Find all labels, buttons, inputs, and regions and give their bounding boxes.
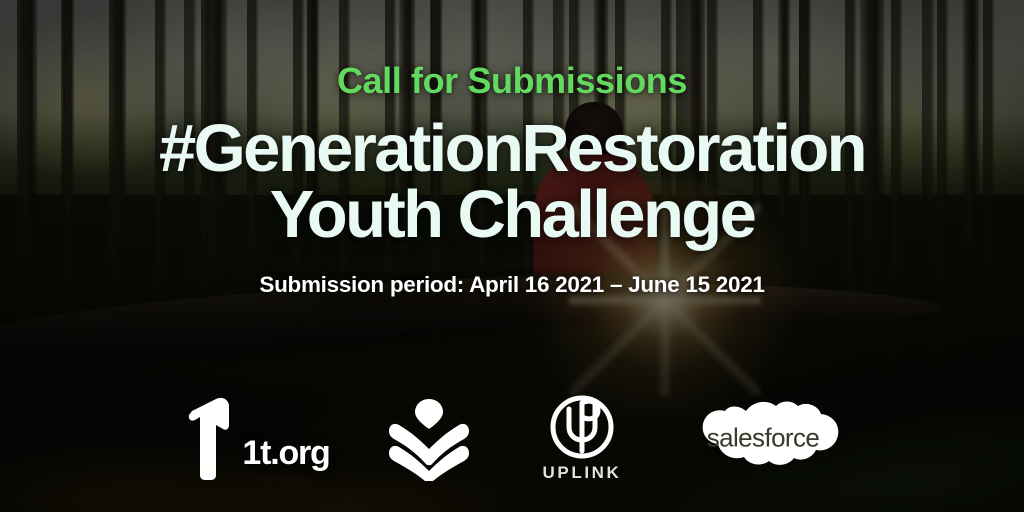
call-for-submissions-eyebrow: Call for Submissions [337, 62, 687, 100]
page-title: #GenerationRestoration Youth Challenge [159, 116, 865, 249]
title-line-1: #GenerationRestoration [159, 111, 865, 186]
partner-logo-row: 1t.org UPLINK sales [0, 392, 1024, 484]
one-trillion-trees-icon [182, 395, 248, 481]
submission-period-text: Submission period: April 16 2021 – June … [259, 272, 764, 298]
logo-un-decade-restoration[interactable] [377, 395, 481, 481]
logo-1t-org[interactable]: 1t.org [181, 395, 331, 481]
call-for-submissions-banner: Call for Submissions #GenerationRestorat… [0, 0, 1024, 512]
logo-uplink[interactable]: UPLINK [527, 392, 637, 484]
sprout-leaf-icon [377, 395, 481, 481]
logo-1t-org-label: 1t.org [242, 434, 329, 473]
title-line-2: Youth Challenge [159, 182, 865, 248]
logo-salesforce[interactable]: salesforce [683, 395, 843, 481]
logo-salesforce-label: salesforce [683, 423, 843, 454]
uplink-monogram-icon [546, 393, 618, 461]
logo-uplink-label: UPLINK [543, 463, 622, 483]
